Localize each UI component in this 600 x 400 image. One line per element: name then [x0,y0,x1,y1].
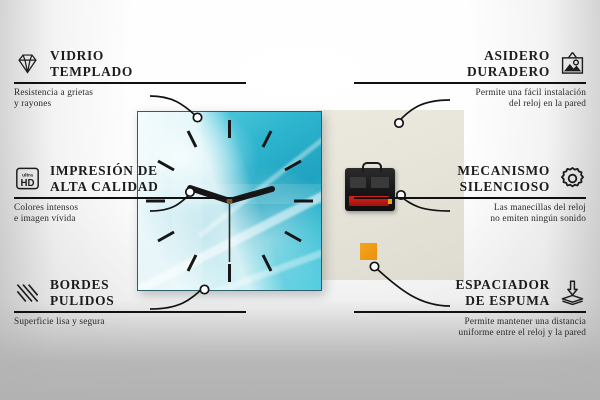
feature-desc-line2: y rayones [14,99,246,110]
feature-bordes-pulidos: BORDES PULIDOS Superficie lisa y segura [14,277,246,328]
feature-desc-line2: e imagen vívida [14,214,246,225]
feature-desc-line1: Superficie lisa y segura [14,317,246,328]
feature-divider [354,197,586,199]
feature-title-line1: IMPRESIÓN DE [50,163,158,179]
feature-title-line2: TEMPLADO [50,64,133,80]
feature-title-line2: PULIDOS [50,293,114,309]
feature-title-line2: SILENCIOSO [457,179,550,195]
feature-title-line1: BORDES [50,277,114,293]
feature-desc-line2: no emiten ningún sonido [354,214,586,225]
ultra-hd-main-text: HD [21,178,35,189]
gear-icon [559,165,586,192]
feature-title-line1: ESPACIADOR [455,277,550,293]
feature-desc-line2: del reloj en la pared [354,99,586,110]
feature-divider [14,82,246,84]
feature-title-line1: VIDRIO [50,48,133,64]
foam-spacer [360,243,377,260]
feature-impresion-alta-calidad: ultra HD IMPRESIÓN DE ALTA CALIDAD Color… [14,163,246,225]
feature-title-line2: DE ESPUMA [455,293,550,309]
feature-desc-line1: Resistencia a grietas [14,88,246,99]
ultra-hd-badge-icon: ultra HD [14,165,41,192]
feature-title-line2: DURADERO [467,64,550,80]
feature-desc-line1: Permite mantener una distancia [354,317,586,328]
feature-divider [354,82,586,84]
feature-mecanismo-silencioso: MECANISMO SILENCIOSO Las manecillas del … [354,163,586,225]
feature-title-line1: ASIDERO [467,48,550,64]
infographic-canvas: VIDRIO TEMPLADO Resistencia a grietas y … [0,0,600,400]
diagonal-lines-icon [14,279,41,306]
feature-vidrio-templado: VIDRIO TEMPLADO Resistencia a grietas y … [14,48,246,110]
feature-title-line1: MECANISMO [457,163,550,179]
feature-divider [14,311,246,313]
feature-divider [354,311,586,313]
feature-desc-line2: uniforme entre el reloj y la pared [354,328,586,339]
feature-desc-line1: Colores intensos [14,203,246,214]
diamond-icon [14,50,41,77]
feature-title-line2: ALTA CALIDAD [50,179,158,195]
feature-desc-line1: Las manecillas del reloj [354,203,586,214]
feature-divider [14,197,246,199]
hanging-picture-frame-icon [559,50,586,77]
feature-desc-line1: Permite una fácil instalación [354,88,586,99]
feature-asidero-duradero: ASIDERO DURADERO Permite una fácil insta… [354,48,586,110]
arrow-down-onto-pad-icon [559,279,586,306]
feature-espaciador-de-espuma: ESPACIADOR DE ESPUMA Permite mantener un… [354,277,586,339]
